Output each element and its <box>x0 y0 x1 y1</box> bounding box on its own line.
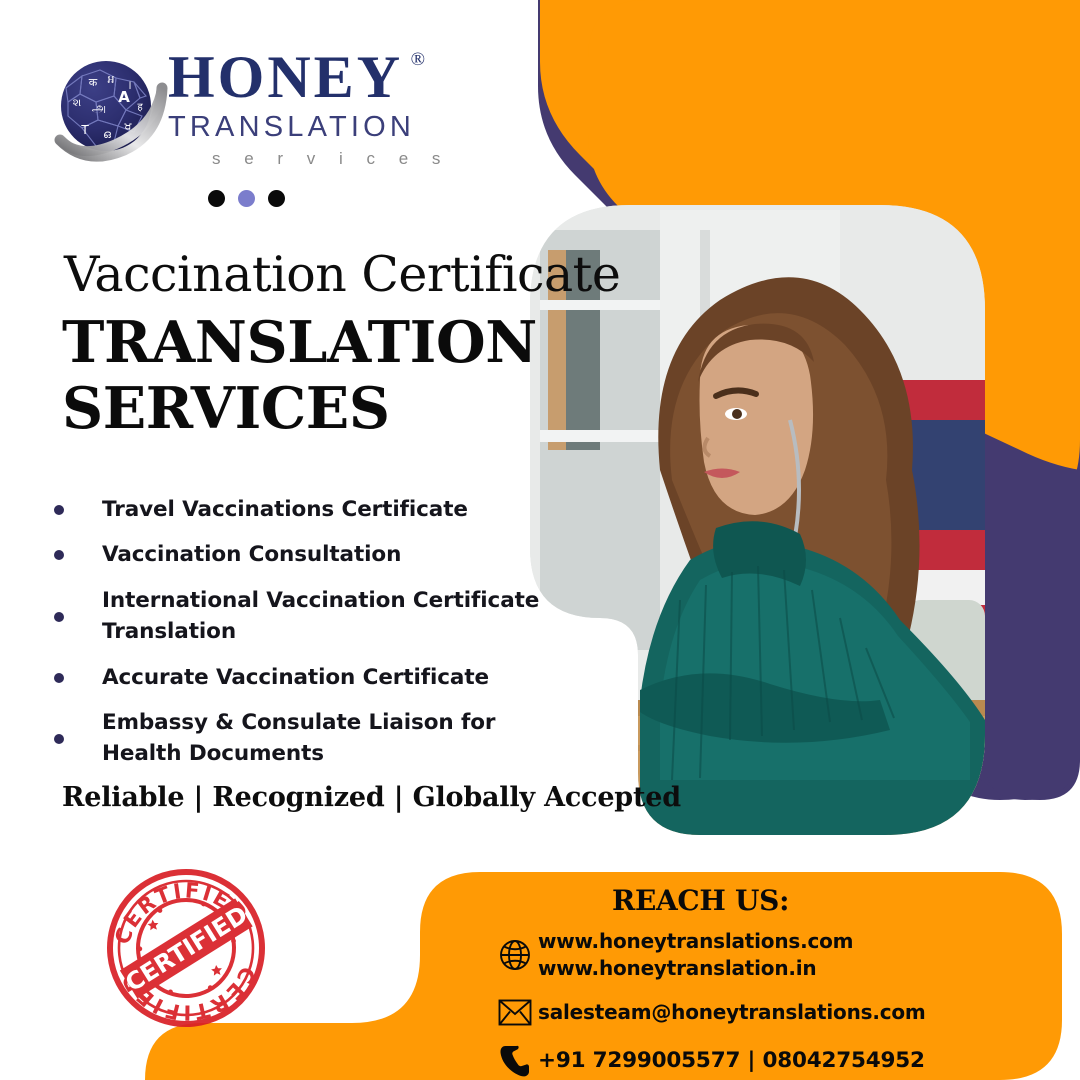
dot-3 <box>268 190 285 207</box>
phone-icon <box>492 1042 538 1080</box>
website-line-1: www.honeytranslations.com <box>538 928 853 955</box>
globe-logo-icon: क អ ا શ அ A ह T ഒ ਖ <box>52 54 170 162</box>
bullet-dot-icon <box>54 673 64 683</box>
service-label: Travel Vaccinations Certificate <box>102 494 468 525</box>
website-line-2: www.honeytranslation.in <box>538 955 853 982</box>
contact-list: www.honeytranslations.com www.honeytrans… <box>492 928 1052 1080</box>
phone-value: +91 7299005577 | 08042754952 <box>538 1046 925 1075</box>
poster-canvas: क អ ا શ அ A ह T ഒ ਖ HONEY ® TRANSLATION … <box>0 0 1080 1080</box>
svg-text:A: A <box>118 88 130 106</box>
logo-dot-row <box>208 190 285 207</box>
contact-row-website[interactable]: www.honeytranslations.com www.honeytrans… <box>492 928 1052 982</box>
list-item: Embassy & Consulate Liaison for Health D… <box>54 707 544 770</box>
service-label: Vaccination Consultation <box>102 539 401 570</box>
logo-name-secondary: TRANSLATION <box>168 111 468 144</box>
logo-name-primary: HONEY <box>168 44 403 110</box>
logo-name-tertiary: s e r v i c e s <box>168 149 468 169</box>
list-item: Accurate Vaccination Certificate <box>54 662 544 693</box>
bullet-dot-icon <box>54 612 64 622</box>
footer-title: REACH US: <box>612 884 789 917</box>
list-item: Travel Vaccinations Certificate <box>54 494 544 525</box>
service-label: International Vaccination Certificate Tr… <box>102 585 544 648</box>
page-title: TRANSLATION SERVICES <box>62 310 532 442</box>
bullet-dot-icon <box>54 734 64 744</box>
contact-row-phone[interactable]: +91 7299005577 | 08042754952 <box>492 1042 1052 1080</box>
svg-text:អ: អ <box>108 73 115 86</box>
bullet-dot-icon <box>54 505 64 515</box>
logo-wordmark: HONEY ® TRANSLATION s e r v i c e s <box>168 46 468 169</box>
svg-text:ഒ: ഒ <box>103 128 111 141</box>
svg-text:அ: அ <box>92 101 106 116</box>
bullet-dot-icon <box>54 550 64 560</box>
svg-text:ह: ह <box>137 102 143 113</box>
services-list: Travel Vaccinations Certificate Vaccinat… <box>54 494 544 784</box>
list-item: Vaccination Consultation <box>54 539 544 570</box>
dot-2 <box>238 190 255 207</box>
service-label: Accurate Vaccination Certificate <box>102 662 489 693</box>
envelope-icon <box>492 993 538 1031</box>
svg-text:क: क <box>89 76 98 89</box>
svg-text:T: T <box>80 123 89 137</box>
svg-text:શ: શ <box>73 96 82 109</box>
globe-icon <box>492 936 538 974</box>
tagline: Reliable | Recognized | Globally Accepte… <box>62 782 681 813</box>
registered-trademark-icon: ® <box>411 50 425 70</box>
contact-row-email[interactable]: salesteam@honeytranslations.com <box>492 993 1052 1031</box>
certified-stamp: CERTIFIED CERTIFIED CERTIFIED <box>104 866 269 1031</box>
purple-corner-accent <box>985 560 1080 800</box>
email-value: salesteam@honeytranslations.com <box>538 999 926 1026</box>
dot-1 <box>208 190 225 207</box>
list-item: International Vaccination Certificate Tr… <box>54 585 544 648</box>
website-values: www.honeytranslations.com www.honeytrans… <box>538 928 853 982</box>
headline-script-line: Vaccination Certificate <box>64 246 620 303</box>
headline-bold-line-1: TRANSLATION <box>62 310 532 376</box>
headline-bold-line-2: SERVICES <box>62 376 532 442</box>
service-label: Embassy & Consulate Liaison for Health D… <box>102 707 544 770</box>
